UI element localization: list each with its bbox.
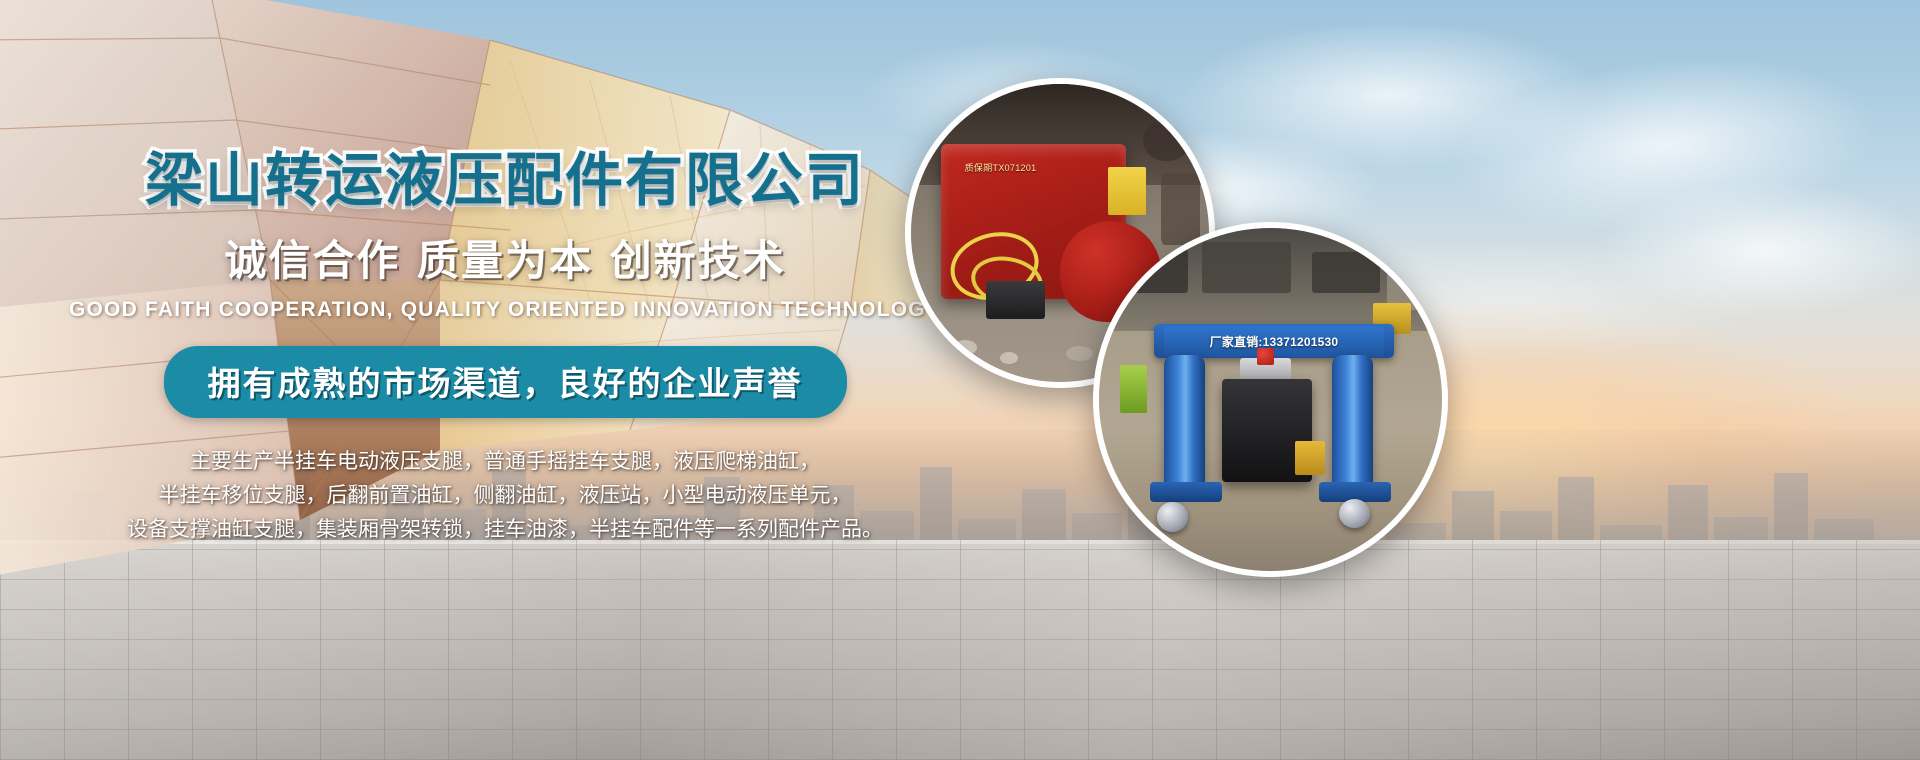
highlight-pill-label: 拥有成熟的市场渠道，良好的企业声誉 — [208, 364, 803, 403]
manufacturer-phone-text: 厂家直销:13371201530 — [1210, 333, 1339, 350]
description-line: 主要生产半挂车电动液压支腿，普通手摇挂车支腿，液压爬梯油缸， — [0, 444, 1010, 478]
description-line: 半挂车移位支腿，后翻前置油缸，侧翻油缸，液压站，小型电动液压单元， — [0, 478, 1010, 512]
highlight-pill-wrapper: 拥有成熟的市场渠道，良好的企业声誉 — [0, 346, 1010, 418]
manufacturer-phone-sign: 厂家直销:13371201530 — [1164, 326, 1384, 357]
red-unit-label: 质保期TX071201 — [965, 161, 1037, 174]
slogan-english: GOOD FAITH COOPERATION, QUALITY ORIENTED… — [0, 298, 1010, 322]
product-description: 主要生产半挂车电动液压支腿，普通手摇挂车支腿，液压爬梯油缸， 半挂车移位支腿，后… — [0, 444, 1010, 546]
page-title: 梁山转运液压配件有限公司 — [0, 150, 1010, 211]
hero-banner: 梁山转运液压配件有限公司 诚信合作 质量为本 创新技术 GOOD FAITH C… — [0, 0, 1920, 760]
product-photo-blue-landing-gear: 厂家直销:13371201530 — [1093, 222, 1448, 577]
highlight-pill: 拥有成熟的市场渠道，良好的企业声誉 — [164, 346, 847, 418]
banner-text-block: 梁山转运液压配件有限公司 诚信合作 质量为本 创新技术 GOOD FAITH C… — [0, 150, 1010, 546]
slogan-chinese: 诚信合作 质量为本 创新技术 — [0, 227, 1010, 288]
description-line: 设备支撑油缸支腿，集装厢骨架转锁，挂车油漆，半挂车配件等一系列配件产品。 — [0, 512, 1010, 546]
